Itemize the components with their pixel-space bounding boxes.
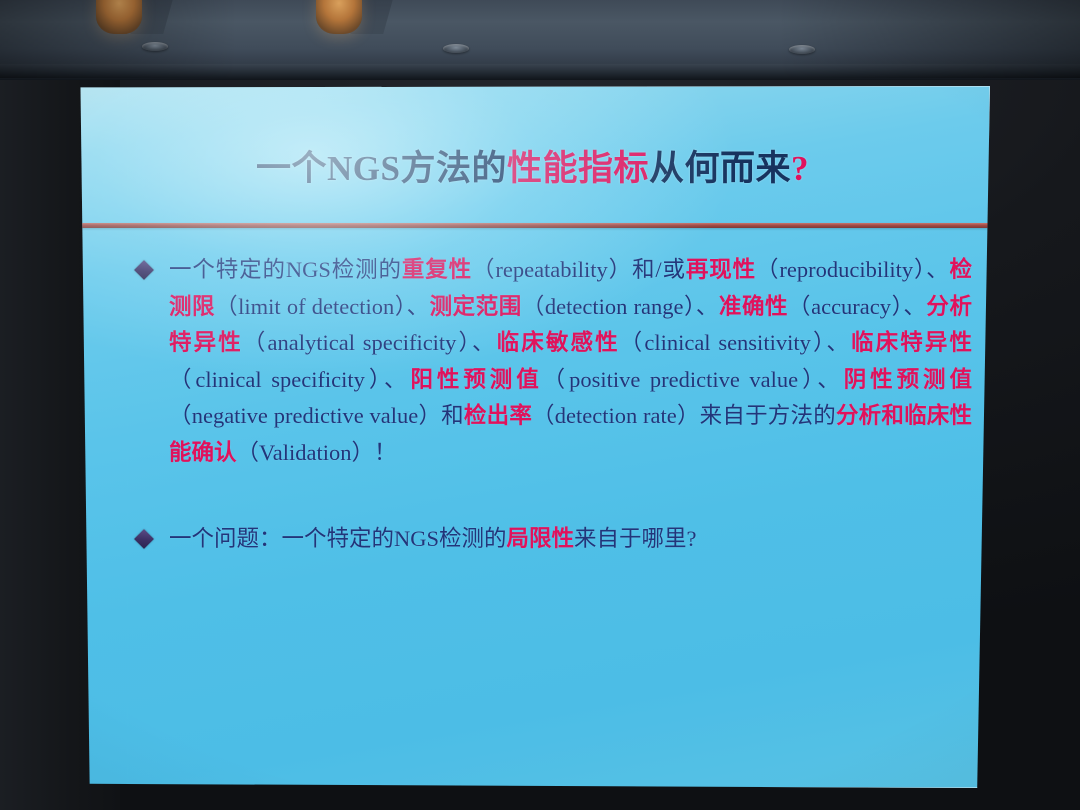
body-text-run: （negative predictive value）和 [169,403,464,428]
highlighted-term: 阳性预测值 [410,367,542,392]
photograph-of-lecture-slide: 一个NGS方法的性能指标从何而来? 一个特定的NGS检测的重复性（repeata… [0,0,1080,810]
projection-screen: 一个NGS方法的性能指标从何而来? 一个特定的NGS检测的重复性（repeata… [75,86,990,788]
body-text-run: （detection rate）来自于方法的 [532,403,836,428]
body-text-run: 一个NGS方法的 [256,149,507,188]
highlighted-term: 阴性预测值 [844,367,972,392]
list-item: 一个问题：一个特定的NGS检测的局限性来自于哪里? [135,521,972,558]
highlighted-term: 临床特异性 [851,330,972,355]
diamond-bullet-icon [134,260,154,280]
diamond-bullet-icon [134,529,154,549]
body-text-run: （clinical sensitivity）、 [620,330,851,355]
body-text-run: （repeatability）和/或 [472,257,686,282]
highlighted-term: 再现性 [686,257,756,282]
ceiling-shading [0,0,1080,78]
highlighted-term: 测定范围 [430,294,522,319]
body-text-run: 来自于哪里? [574,526,697,551]
highlighted-term: 重复性 [402,257,472,282]
body-text-run: 一个特定的NGS检测的 [169,257,402,282]
body-text-run: （positive predictive value）、 [543,367,844,392]
highlighted-term: ? [791,149,809,188]
slide-title: 一个NGS方法的性能指标从何而来? [75,140,990,191]
highlighted-term: 性能指标 [507,149,649,188]
bullet-text: 一个问题：一个特定的NGS检测的局限性来自于哪里? [169,521,972,558]
body-text-run: （clinical specificity）、 [169,367,410,392]
title-divider-rule [75,223,990,228]
body-text-run: （Validation）！ [237,440,397,465]
body-text-run: （accuracy）、 [788,294,926,319]
body-text-run: 从何而来 [649,149,791,188]
highlighted-term: 局限性 [507,526,575,551]
body-text-run: （reproducibility）、 [756,257,949,282]
bullet-text: 一个特定的NGS检测的重复性（repeatability）和/或再现性（repr… [169,252,972,471]
highlighted-term: 检出率 [464,403,532,428]
body-text-run: 一个问题：一个特定的NGS检测的 [169,526,507,551]
body-text-run: （detection range）、 [522,294,719,319]
list-item: 一个特定的NGS检测的重复性（repeatability）和/或再现性（repr… [135,252,972,471]
slide-content: 一个NGS方法的性能指标从何而来? 一个特定的NGS检测的重复性（repeata… [75,86,990,788]
highlighted-term: 临床敏感性 [497,330,620,355]
highlighted-term: 准确性 [719,294,788,319]
body-text-run: （analytical specificity）、 [243,330,497,355]
slide-bullet-list: 一个特定的NGS检测的重复性（repeatability）和/或再现性（repr… [135,252,972,558]
body-text-run: （limit of detection）、 [215,294,430,319]
